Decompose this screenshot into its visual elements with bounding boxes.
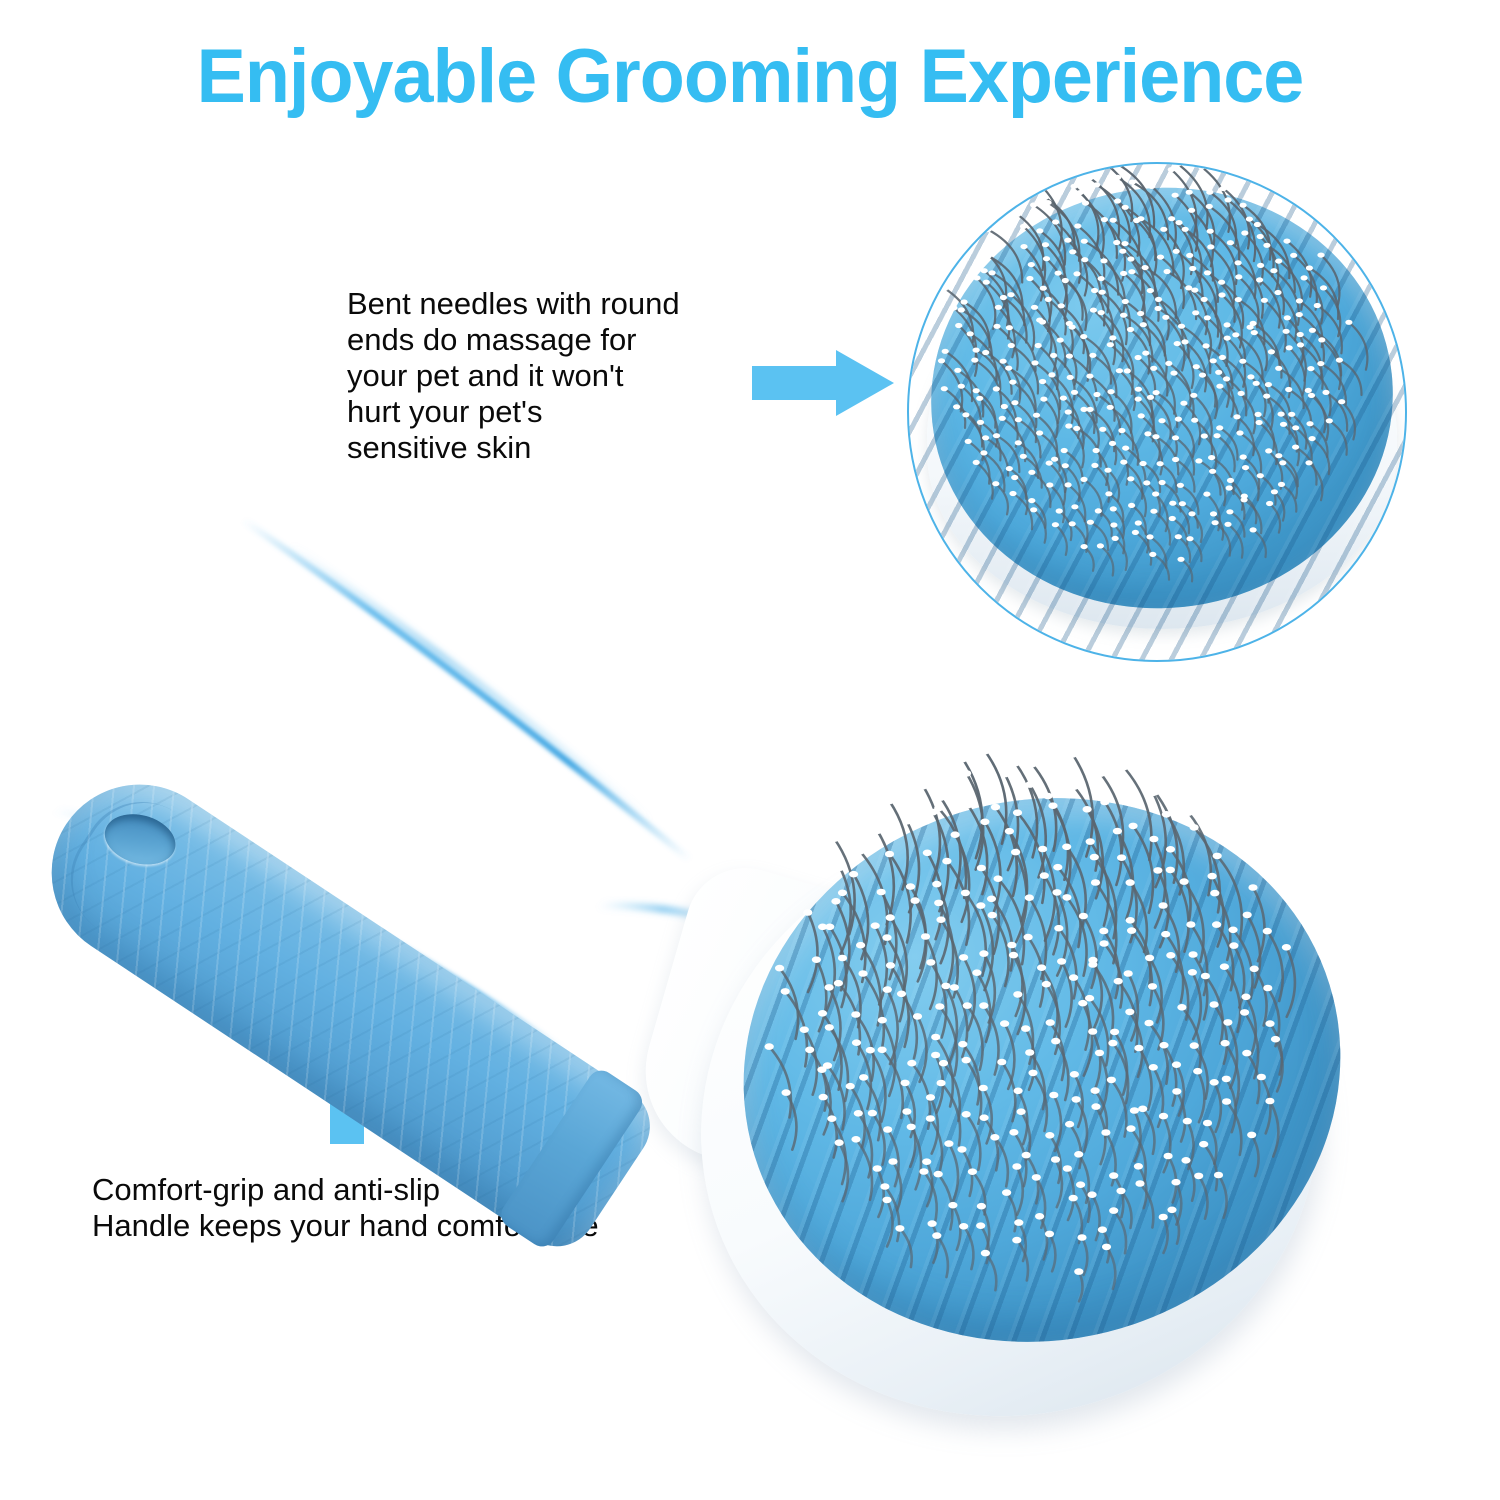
- callout-text-handle: Comfort-grip and anti-slip Handle keeps …: [92, 1172, 752, 1244]
- page-title: Enjoyable Grooming Experience: [23, 34, 1478, 120]
- brush-head-blue-pad: [686, 735, 1399, 1404]
- inset-head-blue-pad: [910, 165, 1405, 631]
- inset-clip: [909, 164, 1405, 660]
- product-feature-graphic: Enjoyable Grooming Experience Bent needl…: [0, 0, 1500, 1500]
- inset-pad-slots: [909, 164, 1405, 660]
- head-pad-slots: [686, 735, 1399, 1404]
- brush-head-closeup-inset: [907, 162, 1407, 662]
- callout-text-needles: Bent needles with round ends do massage …: [347, 286, 767, 466]
- arrow-right-icon: [752, 350, 894, 416]
